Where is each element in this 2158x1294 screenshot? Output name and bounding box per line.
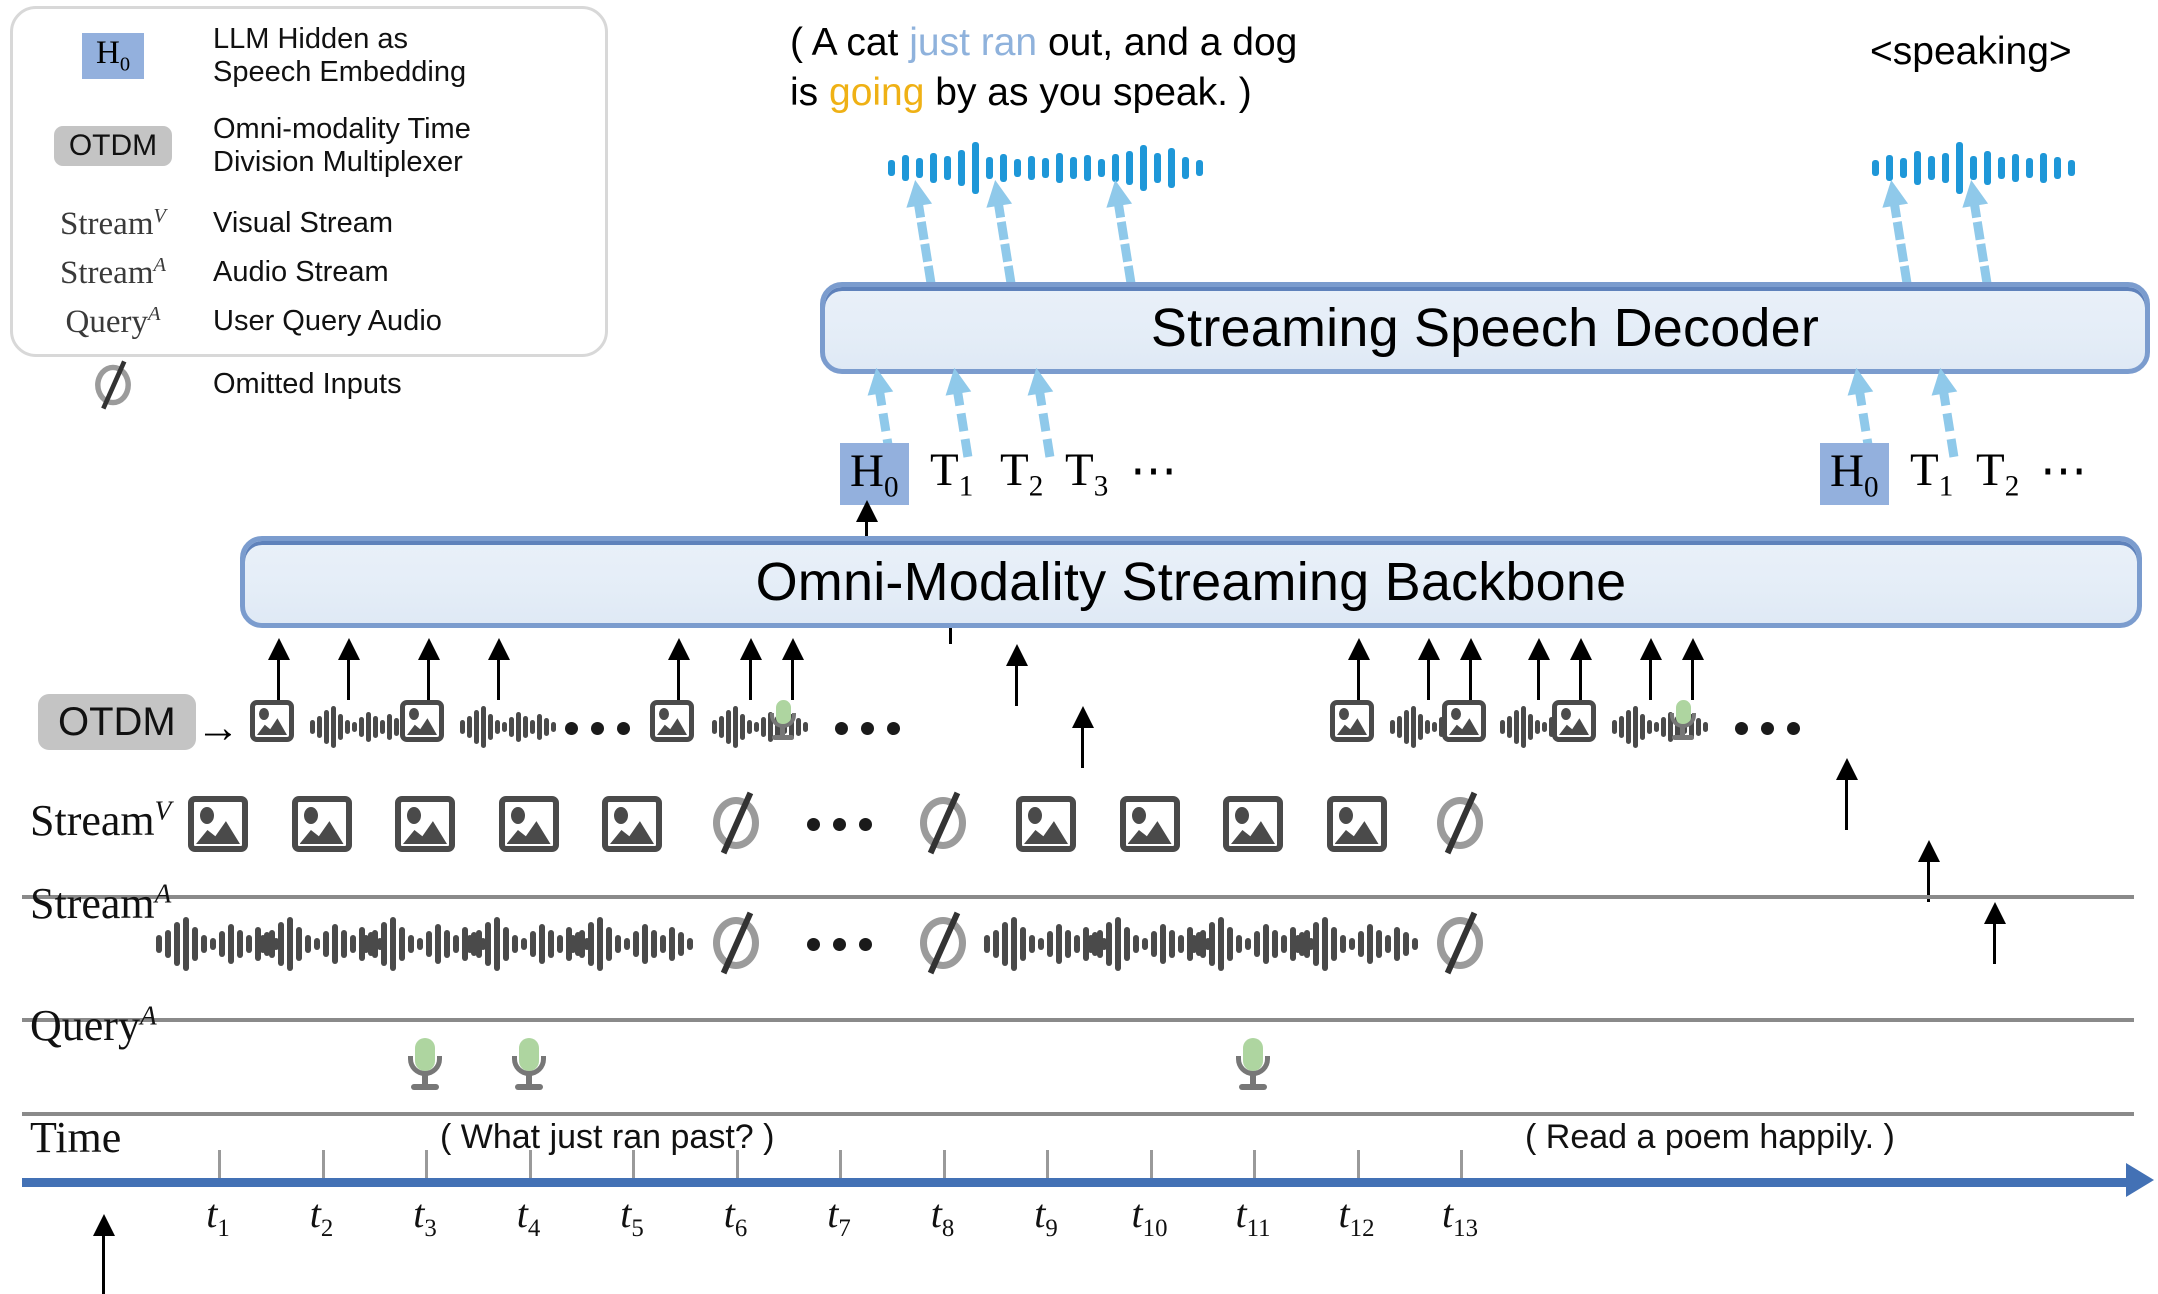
time-tick-label: t6: [724, 1190, 748, 1243]
time-tick: [943, 1150, 946, 1178]
time-tick-label: t1: [206, 1190, 230, 1243]
time-tick: [218, 1150, 221, 1178]
time-tick: [1460, 1150, 1463, 1178]
time-tick-label: t12: [1339, 1190, 1375, 1243]
time-tick-label: t10: [1132, 1190, 1168, 1243]
time-tick: [839, 1150, 842, 1178]
time-tick: [736, 1150, 739, 1178]
time-tick-label: t9: [1034, 1190, 1058, 1243]
time-tick-label: t8: [931, 1190, 955, 1243]
time-tick: [1357, 1150, 1360, 1178]
time-tick-label: t11: [1235, 1190, 1270, 1243]
time-tick: [1150, 1150, 1153, 1178]
time-tick-label: t13: [1442, 1190, 1478, 1243]
time-tick-label: t7: [827, 1190, 851, 1243]
time-tick: [322, 1150, 325, 1178]
time-tick-label: t4: [517, 1190, 541, 1243]
time-tick: [632, 1150, 635, 1178]
time-tick-label: t3: [413, 1190, 437, 1243]
time-tick-label: t5: [620, 1190, 644, 1243]
time-tick: [425, 1150, 428, 1178]
time-tick: [1046, 1150, 1049, 1178]
time-tick: [529, 1150, 532, 1178]
time-axis-ticks: t1t2t3t4t5t6t7t8t9t10t11t12t13: [0, 0, 2158, 1292]
time-tick-label: t2: [310, 1190, 334, 1243]
time-tick: [1253, 1150, 1256, 1178]
